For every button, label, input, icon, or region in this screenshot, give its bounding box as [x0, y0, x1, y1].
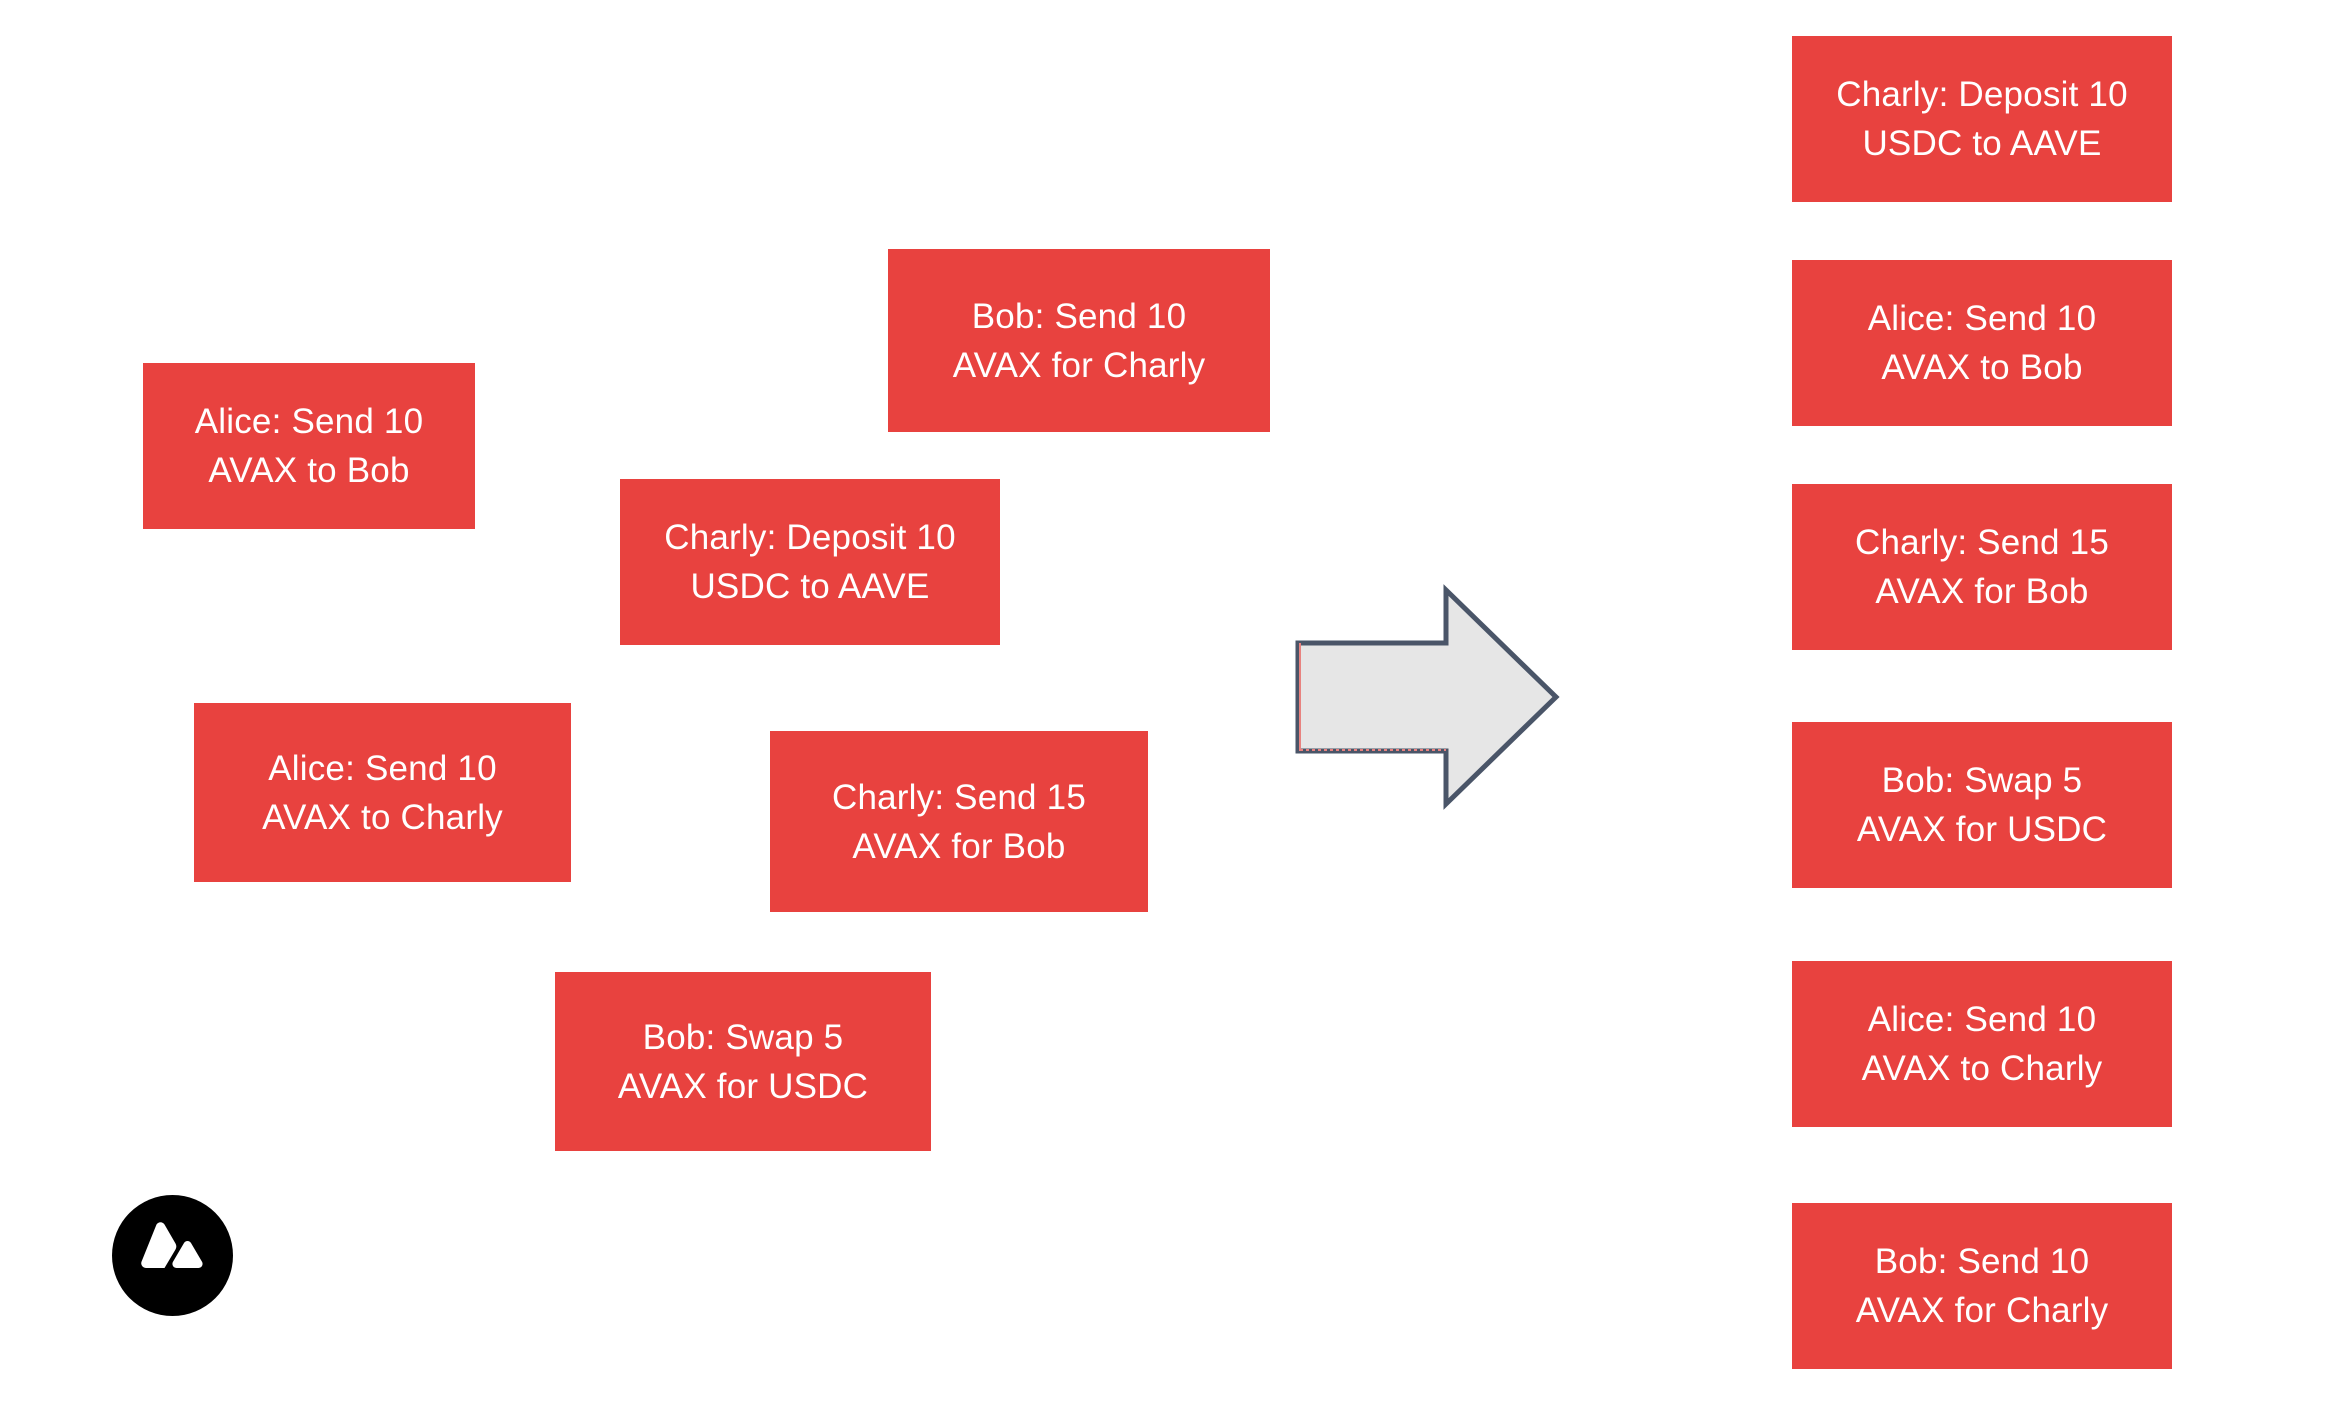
- ordered-transaction-list: Charly: Deposit 10 USDC to AAVE Alice: S…: [0, 0, 2348, 1404]
- avalanche-logo-icon: [112, 1195, 233, 1316]
- transaction-card-seq-2[interactable]: Alice: Send 10 AVAX to Bob: [1792, 260, 2172, 426]
- transaction-card-seq-4[interactable]: Bob: Swap 5 AVAX for USDC: [1792, 722, 2172, 888]
- transaction-card-seq-1[interactable]: Charly: Deposit 10 USDC to AAVE: [1792, 36, 2172, 202]
- transaction-card-seq-3[interactable]: Charly: Send 15 AVAX for Bob: [1792, 484, 2172, 650]
- transaction-card-seq-6[interactable]: Bob: Send 10 AVAX for Charly: [1792, 1203, 2172, 1369]
- diagram-canvas: Alice: Send 10 AVAX to Bob Bob: Send 10 …: [0, 0, 2348, 1404]
- transaction-card-seq-5[interactable]: Alice: Send 10 AVAX to Charly: [1792, 961, 2172, 1127]
